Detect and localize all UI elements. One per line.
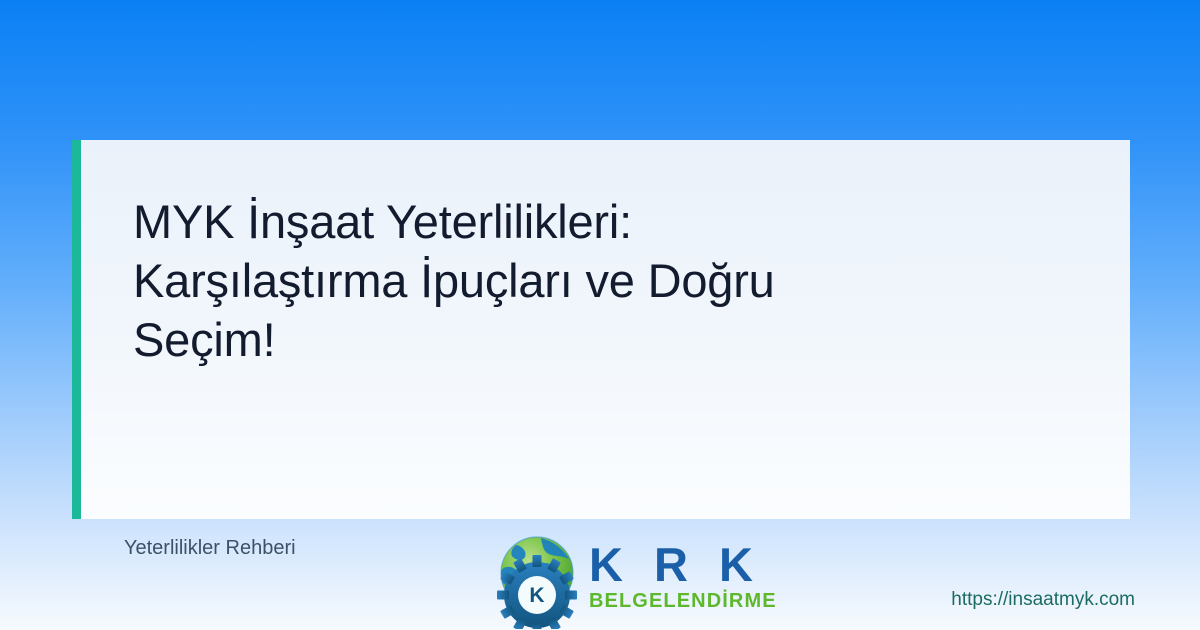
subtitle-text: Yeterlilikler Rehberi — [124, 537, 296, 560]
accent-bar — [72, 140, 81, 519]
brand-name: K R K — [589, 542, 777, 588]
page-title: MYK İnşaat Yeterlilikleri: Karşılaştırma… — [133, 192, 893, 370]
brand-logo: K K R K BELGELENDİRME — [487, 527, 767, 630]
hero-card: MYK İnşaat Yeterlilikleri: Karşılaştırma… — [72, 140, 1130, 519]
card-body: MYK İnşaat Yeterlilikleri: Karşılaştırma… — [81, 140, 1130, 519]
footer-row: Yeterlilikler Rehberi — [0, 519, 1200, 630]
brand-tagline: BELGELENDİRME — [589, 591, 777, 611]
globe-gear-logo-icon: K — [487, 529, 587, 629]
brand-wordmark: K R K BELGELENDİRME — [589, 542, 777, 615]
emblem-letter: K — [529, 584, 544, 607]
site-url[interactable]: https://insaatmyk.com — [951, 589, 1135, 611]
